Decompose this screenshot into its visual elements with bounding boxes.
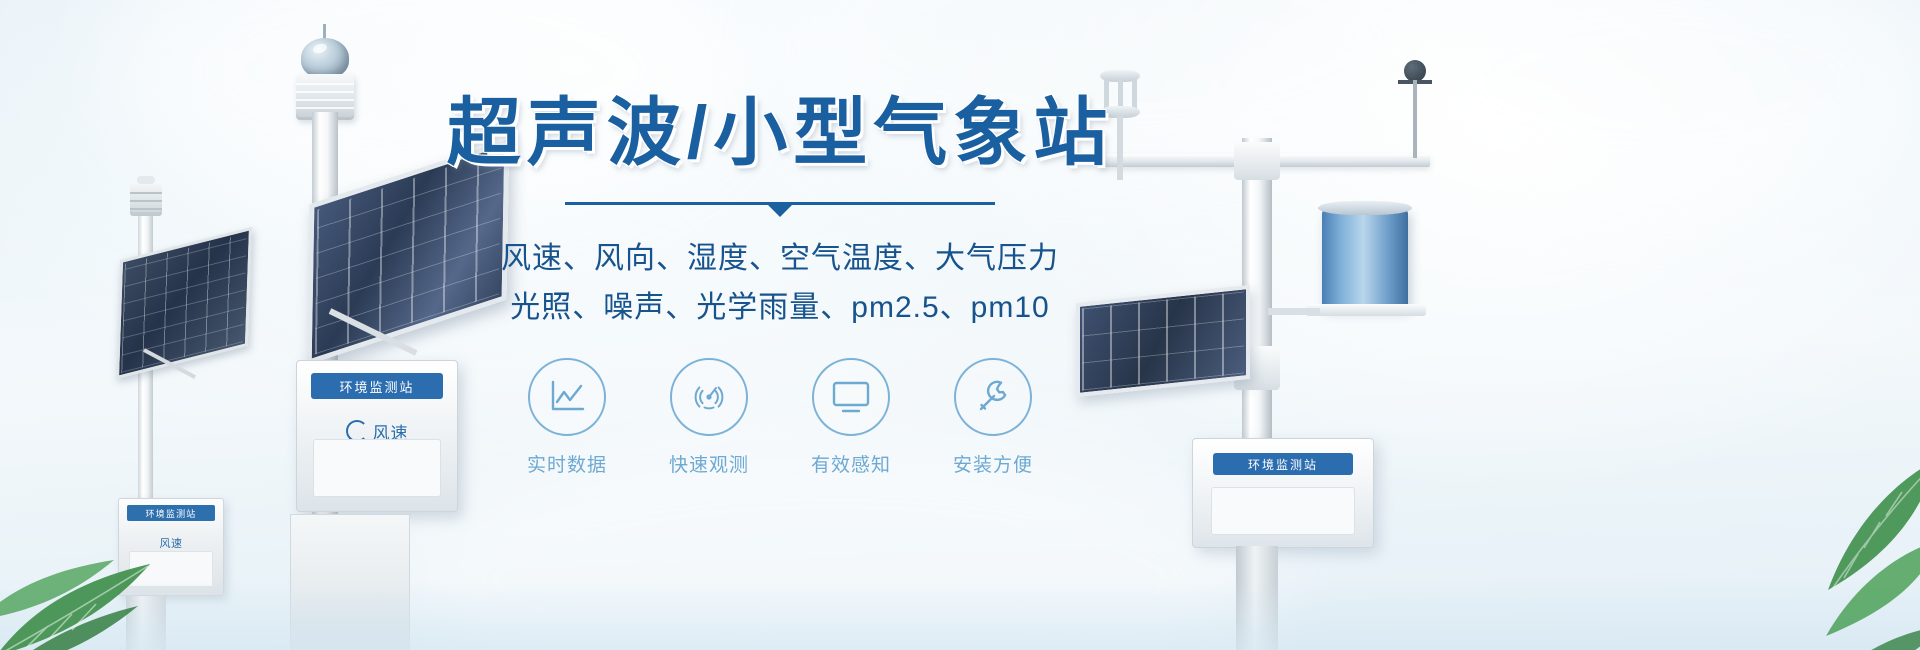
feature-label: 有效感知 bbox=[803, 450, 899, 477]
radar-sensor-icon bbox=[670, 358, 748, 436]
wind-vane-icon bbox=[1398, 60, 1432, 156]
feature-list: 实时数据 快速观测 bbox=[430, 358, 1130, 477]
banner-stage: 环境监测站 风速 环境监测站 风速 bbox=[0, 0, 1920, 650]
cabinet-door bbox=[313, 439, 441, 497]
title-divider bbox=[565, 202, 995, 218]
divider-triangle-icon bbox=[767, 204, 793, 217]
solar-panel bbox=[116, 227, 252, 379]
monitor-icon bbox=[812, 358, 890, 436]
cabinet-name-plate: 环境监测站 bbox=[311, 373, 443, 399]
feature-item-easy-installation[interactable]: 安装方便 bbox=[945, 358, 1041, 477]
shield-fin bbox=[130, 208, 162, 210]
line-chart-icon bbox=[528, 358, 606, 436]
feature-label: 实时数据 bbox=[519, 450, 615, 477]
leaf-decoration-left bbox=[0, 460, 230, 650]
gauge-mount-plate bbox=[1306, 304, 1426, 316]
equipment-cabinet: 环境监测站 bbox=[1192, 438, 1374, 548]
feature-item-realtime-data[interactable]: 实时数据 bbox=[519, 358, 615, 477]
cabinet-door bbox=[1211, 487, 1355, 535]
cabinet-plate-label: 环境监测站 bbox=[339, 377, 414, 396]
feature-label: 安装方便 bbox=[945, 450, 1041, 477]
temp-humidity-shield-icon bbox=[130, 182, 162, 216]
wrench-icon bbox=[954, 358, 1032, 436]
shield-fin bbox=[130, 192, 162, 194]
subtitle-line-2: 光照、噪声、光学雨量、pm2.5、pm10 bbox=[430, 285, 1130, 332]
subtitle-line-1: 风速、风向、湿度、空气温度、大气压力 bbox=[430, 236, 1130, 283]
cabinet-name-plate: 环境监测站 bbox=[1213, 453, 1353, 475]
rain-gauge-icon bbox=[1322, 208, 1408, 308]
gauge-support-arm bbox=[1268, 308, 1320, 315]
mast-clamp bbox=[1234, 142, 1280, 180]
banner-content: 超声波/小型气象站 风速、风向、湿度、空气温度、大气压力 光照、噪声、光学雨量、… bbox=[430, 96, 1130, 566]
feature-label: 快速观测 bbox=[661, 450, 757, 477]
leaf-decoration-right bbox=[1640, 430, 1920, 650]
page-title: 超声波/小型气象站 bbox=[430, 96, 1130, 170]
ground-gradient bbox=[0, 580, 1920, 650]
feature-item-fast-observation[interactable]: 快速观测 bbox=[661, 358, 757, 477]
shield-fin bbox=[130, 200, 162, 202]
feature-item-effective-sensing[interactable]: 有效感知 bbox=[803, 358, 899, 477]
sensor-dome-icon bbox=[301, 38, 349, 78]
cabinet-plate-label: 环境监测站 bbox=[1248, 456, 1318, 473]
